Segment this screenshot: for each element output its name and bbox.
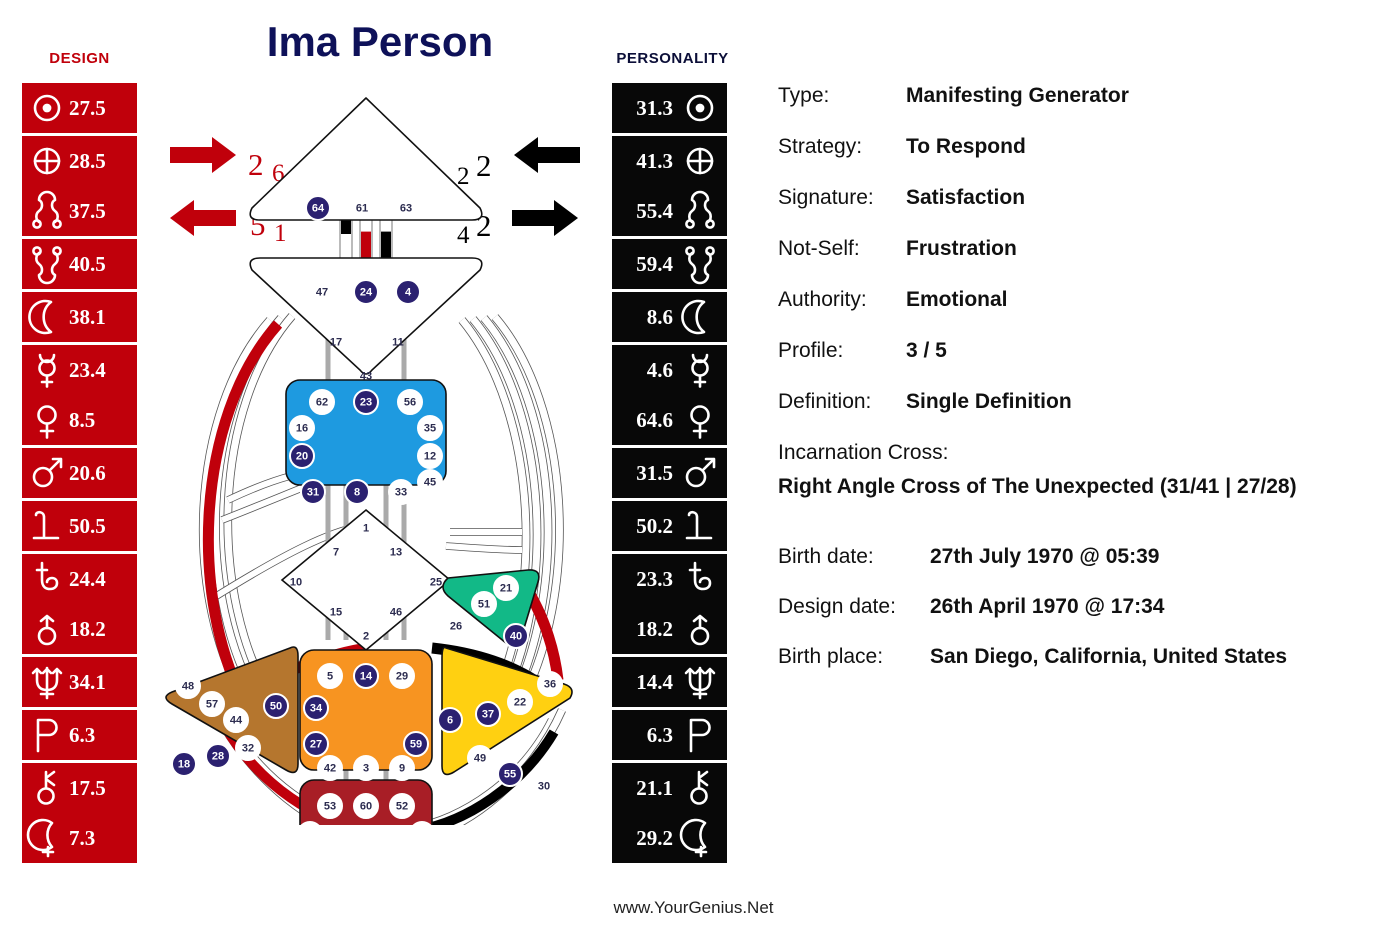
gate-number: 10 [290, 577, 302, 589]
planet-group: 31.3 [612, 83, 727, 133]
planet-row[interactable]: 28.5 [22, 136, 137, 186]
gate-number: 60 [360, 801, 372, 813]
personality-column-header: PERSONALITY [605, 50, 740, 67]
moon-icon [26, 296, 68, 338]
signature-label: Signature: [778, 186, 906, 210]
gate-number: 64 [312, 203, 325, 215]
planet-value: 20.6 [69, 461, 106, 486]
info-row-birth-date: Birth date: 27th July 1970 @ 05:39 [778, 545, 1378, 569]
planet-value: 4.6 [647, 358, 673, 383]
planet-value: 27.5 [69, 96, 106, 121]
mars-icon [26, 452, 68, 494]
birth-place-value: San Diego, California, United States [930, 645, 1287, 669]
planet-row[interactable]: 64.6 [612, 395, 727, 445]
info-row-profile: Profile: 3 / 5 [778, 339, 1378, 363]
planet-group: 34.1 [22, 657, 137, 707]
signature-value: Satisfaction [906, 186, 1025, 210]
gate-number: 13 [390, 547, 402, 559]
planet-value: 7.3 [69, 826, 95, 851]
planet-group: 21.129.2 [612, 763, 727, 863]
planet-row[interactable]: 24.4 [22, 554, 137, 604]
planet-value: 50.2 [636, 514, 673, 539]
gate-number: 34 [310, 703, 323, 715]
planet-row[interactable]: 27.5 [22, 83, 137, 133]
gate-number: 50 [270, 701, 282, 713]
planet-row[interactable]: 8.5 [22, 395, 137, 445]
planet-row[interactable]: 6.3 [22, 710, 137, 760]
profile-value: 3 / 5 [906, 339, 947, 363]
gate-number: 48 [182, 681, 194, 693]
design-column-header: DESIGN [22, 50, 137, 67]
planet-row[interactable]: 18.2 [22, 604, 137, 654]
gate-number: 31 [307, 487, 319, 499]
gate-number: 15 [330, 607, 342, 619]
uranus-icon [26, 608, 68, 650]
birth-date-value: 27th July 1970 @ 05:39 [930, 545, 1159, 569]
planet-value: 40.5 [69, 252, 106, 277]
south-node-icon [679, 243, 721, 285]
earth-icon [679, 140, 721, 182]
gate-number: 59 [410, 739, 422, 751]
gate-number: 23 [360, 397, 372, 409]
incarnation-cross-label: Incarnation Cross: [778, 441, 1378, 465]
planet-group: 6.3 [22, 710, 137, 760]
planet-value: 55.4 [636, 199, 673, 224]
planet-value: 38.1 [69, 305, 106, 330]
planet-group: 50.2 [612, 501, 727, 551]
gate-number: 63 [400, 203, 412, 215]
incarnation-cross-value: Right Angle Cross of The Unexpected (31/… [778, 475, 1378, 499]
gate-number: 45 [424, 477, 436, 489]
gate-number: 61 [356, 203, 368, 215]
info-row-birth-place: Birth place: San Diego, California, Unit… [778, 645, 1378, 669]
planet-value: 14.4 [636, 670, 673, 695]
birth-date-label: Birth date: [778, 545, 930, 569]
north-node-icon [679, 190, 721, 232]
planet-row[interactable]: 17.5 [22, 763, 137, 813]
saturn-icon [679, 558, 721, 600]
planet-group: 20.6 [22, 448, 137, 498]
info-row-design-date: Design date: 26th April 1970 @ 17:34 [778, 595, 1378, 619]
planet-row[interactable]: 50.2 [612, 501, 727, 551]
gate-number: 4 [405, 287, 412, 299]
planet-row[interactable]: 55.4 [612, 186, 727, 236]
footer-url: www.YourGenius.Net [0, 898, 1387, 918]
planet-value: 64.6 [636, 408, 673, 433]
info-row-authority: Authority: Emotional [778, 288, 1378, 312]
gate-number: 35 [424, 423, 436, 435]
birth-place-label: Birth place: [778, 645, 930, 669]
jupiter-icon [26, 505, 68, 547]
gate-number: 25 [430, 577, 442, 589]
strategy-value: To Respond [906, 135, 1026, 159]
venus-icon [26, 399, 68, 441]
planet-row[interactable]: 40.5 [22, 239, 137, 289]
chiron-icon [679, 767, 721, 809]
black-moon-lilith-icon [26, 817, 68, 859]
gate-number: 49 [474, 753, 486, 765]
planet-value: 37.5 [69, 199, 106, 224]
planet-value: 17.5 [69, 776, 106, 801]
planet-group: 27.5 [22, 83, 137, 133]
gate-number: 9 [399, 763, 405, 775]
planet-value: 8.6 [647, 305, 673, 330]
gate-number: 20 [296, 451, 308, 463]
jupiter-icon [679, 505, 721, 547]
planet-value: 59.4 [636, 252, 673, 277]
mercury-icon [26, 349, 68, 391]
info-panel: Type: Manifesting Generator Strategy: To… [778, 84, 1378, 695]
gate-number: 6 [447, 715, 453, 727]
planet-value: 18.2 [69, 617, 106, 642]
north-node-icon [26, 190, 68, 232]
gate-number: 14 [360, 671, 373, 683]
gate-number: 17 [330, 337, 342, 349]
gate-number: 11 [392, 337, 404, 349]
planet-group: 8.6 [612, 292, 727, 342]
gate-number: 26 [450, 621, 462, 633]
planet-group: 28.537.5 [22, 136, 137, 236]
planet-group: 4.664.6 [612, 345, 727, 445]
planet-value: 23.3 [636, 567, 673, 592]
gate-number: 55 [504, 769, 516, 781]
earth-icon [26, 140, 68, 182]
planet-group: 23.318.2 [612, 554, 727, 654]
moon-icon [679, 296, 721, 338]
gate-number: 47 [316, 287, 328, 299]
gate-number: 29 [396, 671, 408, 683]
design-planet-column: 27.528.537.540.538.123.48.520.650.524.41… [22, 83, 137, 866]
authority-label: Authority: [778, 288, 906, 312]
gate-number: 53 [324, 801, 336, 813]
gate-number: 28 [212, 751, 224, 763]
info-row-strategy: Strategy: To Respond [778, 135, 1378, 159]
planet-group: 59.4 [612, 239, 727, 289]
bodygraph: 6461634724417114362235616352012453183317… [150, 80, 610, 825]
planet-row[interactable]: 21.1 [612, 763, 727, 813]
personality-planet-column: 31.341.355.459.48.64.664.631.550.223.318… [612, 83, 727, 866]
authority-value: Emotional [906, 288, 1008, 312]
type-label: Type: [778, 84, 906, 108]
gate-number: 22 [514, 697, 526, 709]
neptune-icon [26, 661, 68, 703]
planet-row[interactable]: 41.3 [612, 136, 727, 186]
gate-number: 46 [390, 607, 402, 619]
gate-number: 32 [242, 743, 254, 755]
uranus-icon [679, 608, 721, 650]
info-row-type: Type: Manifesting Generator [778, 84, 1378, 108]
planet-row[interactable]: 31.3 [612, 83, 727, 133]
planet-row[interactable]: 38.1 [22, 292, 137, 342]
neptune-icon [679, 661, 721, 703]
definition-label: Definition: [778, 390, 906, 414]
planet-row[interactable]: 14.4 [612, 657, 727, 707]
info-row-signature: Signature: Satisfaction [778, 186, 1378, 210]
planet-value: 28.5 [69, 149, 106, 174]
gate-number: 21 [500, 583, 512, 595]
pluto-icon [26, 714, 68, 756]
planet-group: 40.5 [22, 239, 137, 289]
gate-number: 18 [178, 759, 190, 771]
planet-group: 14.4 [612, 657, 727, 707]
planet-value: 23.4 [69, 358, 106, 383]
gate-number: 43 [360, 371, 372, 383]
gate-number: 7 [333, 547, 339, 559]
gate-number: 51 [478, 599, 490, 611]
saturn-icon [26, 558, 68, 600]
profile-label: Profile: [778, 339, 906, 363]
planet-row[interactable]: 4.6 [612, 345, 727, 395]
page-title: Ima Person [185, 18, 575, 66]
planet-group: 23.48.5 [22, 345, 137, 445]
gate-number: 62 [316, 397, 328, 409]
gate-number: 37 [482, 709, 494, 721]
design-date-label: Design date: [778, 595, 930, 619]
mercury-icon [679, 349, 721, 391]
gate-number: 52 [396, 801, 408, 813]
gate-number: 42 [324, 763, 336, 775]
planet-row[interactable]: 6.3 [612, 710, 727, 760]
planet-value: 34.1 [69, 670, 106, 695]
gate-number: 24 [360, 287, 373, 299]
planet-value: 24.4 [69, 567, 106, 592]
planet-group: 17.57.3 [22, 763, 137, 863]
planet-value: 8.5 [69, 408, 95, 433]
venus-icon [679, 399, 721, 441]
planet-row[interactable]: 8.6 [612, 292, 727, 342]
planet-value: 21.1 [636, 776, 673, 801]
planet-value: 6.3 [647, 723, 673, 748]
gate-number: 5 [327, 671, 333, 683]
planet-value: 41.3 [636, 149, 673, 174]
planet-row[interactable]: 23.4 [22, 345, 137, 395]
gate-number: 27 [310, 739, 322, 751]
planet-group: 24.418.2 [22, 554, 137, 654]
notself-value: Frustration [906, 237, 1017, 261]
gate-number: 56 [404, 397, 416, 409]
south-node-icon [26, 243, 68, 285]
sun-icon [26, 87, 68, 129]
strategy-label: Strategy: [778, 135, 906, 159]
gate-number: 57 [206, 699, 218, 711]
planet-group: 41.355.4 [612, 136, 727, 236]
planet-group: 38.1 [22, 292, 137, 342]
chiron-icon [26, 767, 68, 809]
planet-group: 50.5 [22, 501, 137, 551]
planet-row[interactable]: 18.2 [612, 604, 727, 654]
planet-value: 18.2 [636, 617, 673, 642]
planet-row[interactable]: 31.5 [612, 448, 727, 498]
mars-icon [679, 452, 721, 494]
planet-value: 50.5 [69, 514, 106, 539]
planet-row[interactable]: 20.6 [22, 448, 137, 498]
planet-value: 29.2 [636, 826, 673, 851]
chart-page: Ima Person DESIGN PERSONALITY 27.528.537… [0, 0, 1387, 937]
info-row-notself: Not-Self: Frustration [778, 237, 1378, 261]
notself-label: Not-Self: [778, 237, 906, 261]
definition-value: Single Definition [906, 390, 1072, 414]
planet-group: 6.3 [612, 710, 727, 760]
planet-value: 31.5 [636, 461, 673, 486]
gate-number: 3 [363, 763, 369, 775]
gate-number: 16 [296, 423, 308, 435]
gate-number: 33 [395, 487, 407, 499]
type-value: Manifesting Generator [906, 84, 1129, 108]
design-date-value: 26th April 1970 @ 17:34 [930, 595, 1164, 619]
gate-number: 36 [544, 679, 556, 691]
sun-icon [679, 87, 721, 129]
gate-number: 12 [424, 451, 436, 463]
planet-row[interactable]: 29.2 [612, 813, 727, 863]
planet-value: 6.3 [69, 723, 95, 748]
gate-number: 8 [354, 487, 360, 499]
planet-group: 31.5 [612, 448, 727, 498]
gate-number: 30 [538, 781, 550, 793]
planet-row[interactable]: 23.3 [612, 554, 727, 604]
black-moon-lilith-icon [679, 817, 721, 859]
planet-row[interactable]: 37.5 [22, 186, 137, 236]
pluto-icon [679, 714, 721, 756]
planet-value: 31.3 [636, 96, 673, 121]
planet-row[interactable]: 50.5 [22, 501, 137, 551]
gate-number: 40 [510, 631, 522, 643]
gate-number: 44 [230, 715, 243, 727]
planet-row[interactable]: 59.4 [612, 239, 727, 289]
info-row-definition: Definition: Single Definition [778, 390, 1378, 414]
planet-row[interactable]: 34.1 [22, 657, 137, 707]
gate-number: 1 [363, 523, 369, 535]
gate-number: 2 [363, 631, 369, 643]
planet-row[interactable]: 7.3 [22, 813, 137, 863]
